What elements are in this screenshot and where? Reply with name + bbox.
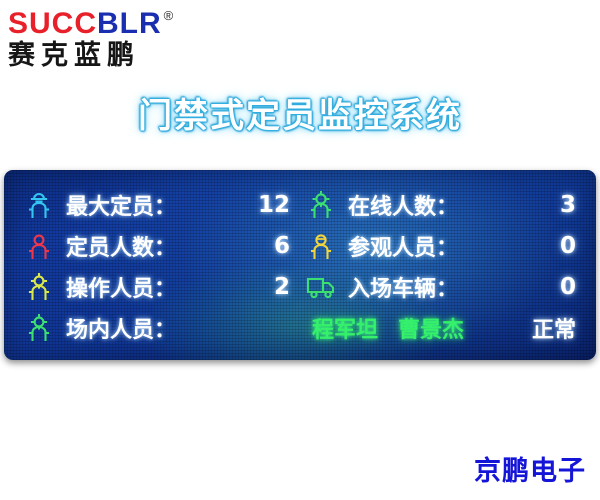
stat-value: 0 (560, 274, 582, 300)
led-row: 最大定员： 12 在线人数： 3 (24, 184, 580, 225)
stat-value: 3 (560, 192, 582, 218)
led-row: 操作人员： 2 入场车辆： 0 (24, 266, 580, 307)
led-display-panel: 最大定员： 12 在线人数： 3 (4, 170, 596, 360)
stat-label: 最大定员： (66, 189, 176, 221)
status-badge: 正常 (532, 312, 582, 344)
logo-wordmark-primary: SUCC (8, 7, 97, 40)
person-online-icon (306, 190, 336, 220)
led-row-onsite-personnel: 场内人员： 程军坦 曹景杰 正常 (24, 307, 580, 348)
logo-wordmark-secondary: BLR (97, 7, 162, 40)
stat-visitor-count: 参观人员： 0 (306, 230, 582, 262)
page-title: 门禁式定员监控系统 (0, 88, 600, 137)
stat-max-capacity: 最大定员： 12 (24, 189, 306, 221)
onsite-label: 场内人员： (66, 312, 176, 344)
person-onsite-icon (24, 313, 54, 343)
stat-label: 入场车辆： (348, 271, 458, 303)
led-display-grid: 最大定员： 12 在线人数： 3 (4, 170, 596, 360)
onsite-names-and-status: 程军坦 曹景杰 正常 (306, 312, 582, 344)
person-operator-icon (24, 272, 54, 302)
stat-label: 操作人员： (66, 271, 176, 303)
stat-label: 定员人数： (66, 230, 176, 262)
logo-chinese-name: 赛克蓝鹏 (8, 40, 208, 72)
onsite-person-name: 曹景杰 (398, 312, 464, 344)
registered-trademark-icon: ® (164, 8, 175, 24)
led-row: 定员人数： 6 参观人员： 0 (24, 225, 580, 266)
footer-company-name: 京鹏电子 (474, 449, 586, 488)
stat-online-count: 在线人数： 3 (306, 189, 582, 221)
onsite-person-name: 程军坦 (312, 312, 378, 344)
stat-onsite-personnel: 场内人员： (24, 312, 306, 344)
stat-label: 在线人数： (348, 189, 458, 221)
person-visitor-icon (306, 231, 336, 261)
stat-value: 0 (560, 233, 582, 259)
truck-icon (306, 272, 336, 302)
logo-wordmark: SUCCBLR® (8, 8, 208, 40)
person-registered-icon (24, 231, 54, 261)
person-hardhat-icon (24, 190, 54, 220)
stat-vehicle-count: 入场车辆： 0 (306, 271, 582, 303)
stat-registered-count: 定员人数： 6 (24, 230, 306, 262)
stat-value: 12 (258, 192, 306, 218)
stat-operator-count: 操作人员： 2 (24, 271, 306, 303)
company-logo: SUCCBLR® 赛克蓝鹏 (8, 8, 208, 72)
stat-label: 参观人员： (348, 230, 458, 262)
stat-value: 2 (274, 274, 306, 300)
stat-value: 6 (274, 233, 306, 259)
